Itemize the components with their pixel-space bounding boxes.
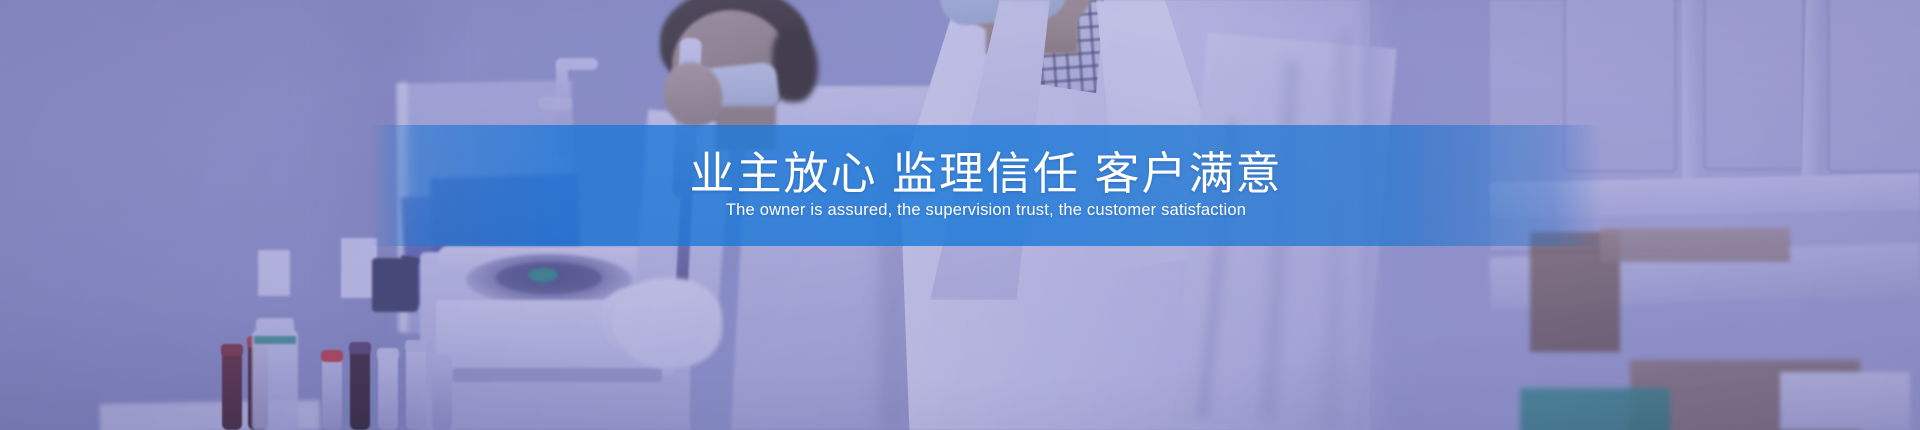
- slogan-content: 业主放心 监理信任 客户满意 The owner is assured, the…: [370, 125, 1602, 246]
- hero-banner: 业主放心 监理信任 客户满意 The owner is assured, the…: [0, 0, 1920, 430]
- slogan-headline: 业主放心 监理信任 客户满意: [689, 150, 1282, 197]
- slogan-bar: 业主放心 监理信任 客户满意 The owner is assured, the…: [370, 125, 1602, 246]
- slogan-subline: The owner is assured, the supervision tr…: [726, 201, 1246, 221]
